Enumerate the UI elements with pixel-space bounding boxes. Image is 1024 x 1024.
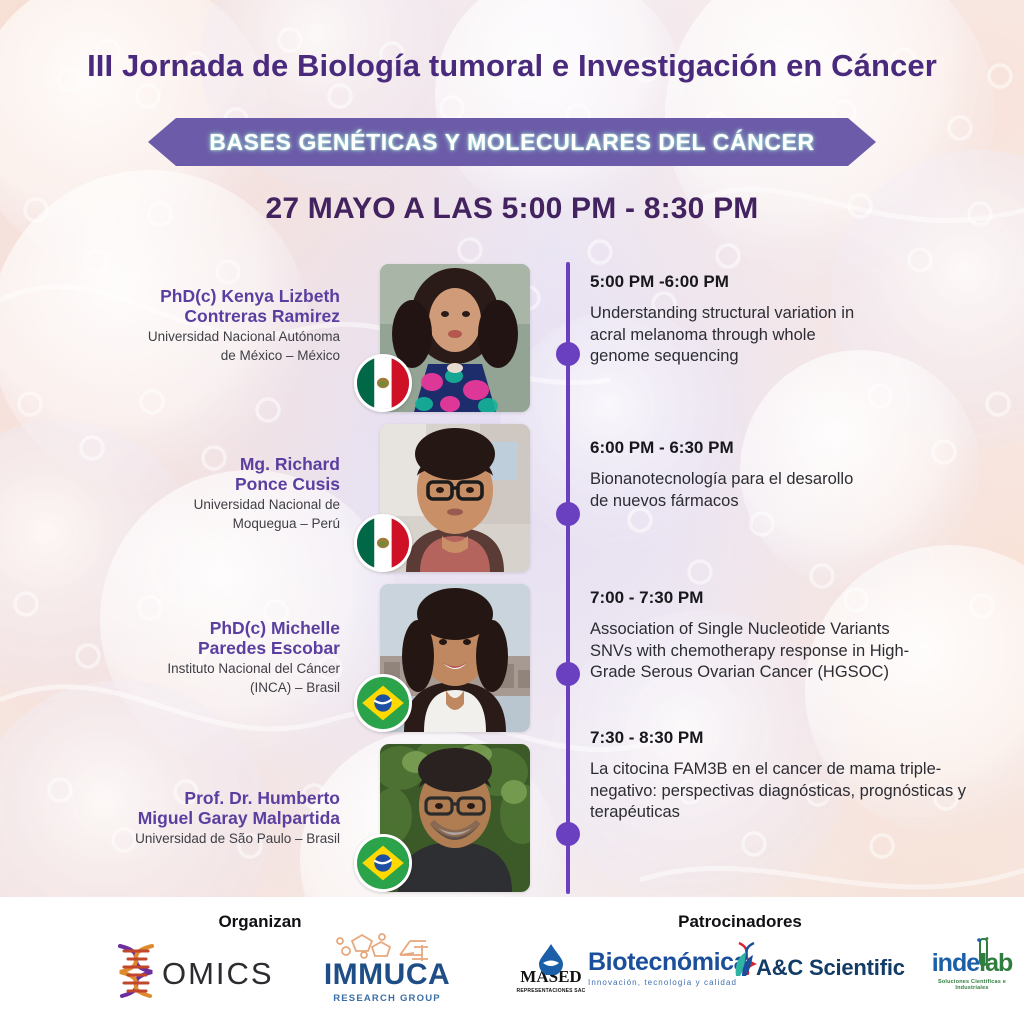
subtitle-text: BASES GENÉTICAS Y MOLECULARES DEL CÁNCER	[209, 129, 814, 156]
immuca-antibody-icon	[312, 933, 462, 961]
speaker-name-line1: PhD(c) Michelle	[60, 618, 340, 638]
speaker-name-line2: Ponce Cusis	[60, 474, 340, 494]
program-row: Mg. Richard Ponce Cusis Universidad Naci…	[0, 418, 1024, 578]
schedule-time: 7:30 - 8:30 PM	[590, 728, 990, 748]
immuca-wordmark: IMMUCA	[312, 959, 462, 991]
mased-tagline: REPRESENTACIONES SAC	[512, 988, 590, 994]
omics-helix-icon	[110, 942, 162, 1000]
speaker-info: Prof. Dr. Humberto Miguel Garay Malparti…	[60, 788, 340, 847]
program-row: Prof. Dr. Humberto Miguel Garay Malparti…	[0, 738, 1024, 898]
schedule-slot: 5:00 PM -6:00 PM Understanding structura…	[590, 272, 990, 368]
speaker-name-line2: Contreras Ramirez	[60, 306, 340, 326]
omics-logo: OMICS	[110, 942, 270, 1002]
speaker-affiliation-line2: Moquegua – Perú	[60, 516, 340, 532]
ac-scientific-logo: A&C Scientific	[756, 955, 924, 981]
omics-wordmark: OMICS	[162, 956, 274, 992]
schedule-title: Bionanotecnología para el desarollo de n…	[590, 469, 870, 512]
test-tube-icon	[974, 937, 992, 967]
biotecnomica-wordmark: Biotecnómica	[588, 949, 754, 975]
indelab-tagline: Soluciones Científicas e Industriales	[922, 979, 1022, 991]
schedule-title: Understanding structural variation in ac…	[590, 303, 860, 368]
brazil-flag-icon	[354, 834, 412, 892]
event-poster: III Jornada de Biología tumoral e Invest…	[0, 0, 1024, 1024]
speaker-name-line2: Miguel Garay Malpartida	[60, 808, 340, 828]
schedule-slot: 7:00 - 7:30 PM Association of Single Nuc…	[590, 588, 990, 684]
schedule-title: Association of Single Nucleotide Variant…	[590, 619, 930, 684]
speaker-affiliation-line1: Universidad de São Paulo – Brasil	[60, 831, 340, 847]
footer: Organizan Patrocinadores	[0, 897, 1024, 1024]
schedule-title: La citocina FAM3B en el cancer de mama t…	[590, 759, 982, 824]
speaker-name-line1: Mg. Richard	[60, 454, 340, 474]
program-section: PhD(c) Kenya Lizbeth Contreras Ramirez U…	[0, 258, 1024, 898]
mexico-flag-icon	[354, 354, 412, 412]
immuca-logo: IMMUCA RESEARCH GROUP	[312, 933, 462, 1009]
indelab-logo: indelab Soluciones Científicas e Industr…	[922, 949, 1022, 991]
speaker-affiliation-line2: de México – México	[60, 348, 340, 364]
schedule-time: 5:00 PM -6:00 PM	[590, 272, 990, 292]
patrocinadores-heading: Patrocinadores	[590, 912, 890, 932]
schedule-slot: 7:30 - 8:30 PM La citocina FAM3B en el c…	[590, 728, 990, 824]
subtitle-ribbon: BASES GENÉTICAS Y MOLECULARES DEL CÁNCER	[148, 118, 876, 166]
schedule-time: 7:00 - 7:30 PM	[590, 588, 990, 608]
speaker-name-line1: Prof. Dr. Humberto	[60, 788, 340, 808]
schedule-time: 6:00 PM - 6:30 PM	[590, 438, 990, 458]
immuca-tagline: RESEARCH GROUP	[312, 993, 462, 1004]
speaker-affiliation-line1: Instituto Nacional del Cáncer	[60, 661, 340, 677]
mexico-flag-icon	[354, 514, 412, 572]
speaker-name-line2: Paredes Escobar	[60, 638, 340, 658]
program-row: PhD(c) Michelle Paredes Escobar Institut…	[0, 578, 1024, 738]
program-row: PhD(c) Kenya Lizbeth Contreras Ramirez U…	[0, 258, 1024, 418]
event-datetime: 27 MAYO A LAS 5:00 PM - 8:30 PM	[0, 192, 1024, 226]
speaker-affiliation-line1: Universidad Nacional de	[60, 497, 340, 513]
speaker-info: PhD(c) Michelle Paredes Escobar Institut…	[60, 618, 340, 696]
speaker-info: Mg. Richard Ponce Cusis Universidad Naci…	[60, 454, 340, 532]
page-title: III Jornada de Biología tumoral e Invest…	[0, 48, 1024, 84]
organizan-heading: Organizan	[110, 912, 410, 932]
mased-logo: MASED REPRESENTACIONES SAC	[512, 943, 590, 1005]
indelab-wordmark-part1: inde	[932, 949, 979, 977]
speaker-name-line1: PhD(c) Kenya Lizbeth	[60, 286, 340, 306]
biotecnomica-logo: Biotecnómica Innovación, tecnología y ca…	[588, 949, 754, 987]
schedule-slot: 6:00 PM - 6:30 PM Bionanotecnología para…	[590, 438, 990, 512]
speaker-affiliation-line1: Universidad Nacional Autónoma	[60, 329, 340, 345]
mased-droplet-icon	[536, 943, 566, 975]
speaker-affiliation-line2: (INCA) – Brasil	[60, 680, 340, 696]
brazil-flag-icon	[354, 674, 412, 732]
leaf-icon	[732, 952, 754, 978]
biotecnomica-tagline: Innovación, tecnología y calidad	[588, 978, 754, 987]
speaker-info: PhD(c) Kenya Lizbeth Contreras Ramirez U…	[60, 286, 340, 364]
ac-scientific-wordmark: A&C Scientific	[756, 955, 924, 981]
